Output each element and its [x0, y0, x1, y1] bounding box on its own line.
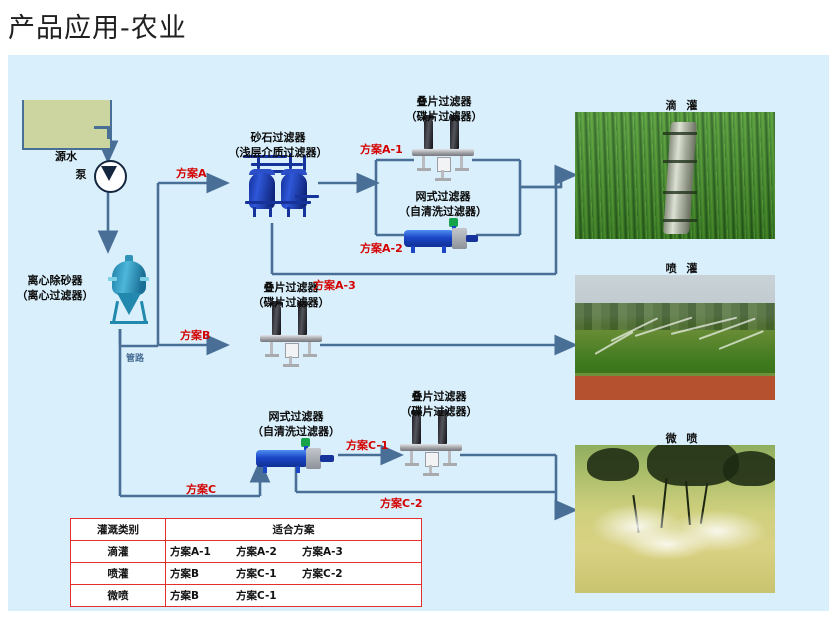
plan-b-label: 方案B — [180, 327, 210, 343]
plan-a-label: 方案A — [176, 165, 207, 181]
table-row: 微喷 方案B方案C-1 — [71, 585, 422, 607]
photo-caption-drip: 滴 灌 — [628, 97, 738, 113]
table-header-row: 灌溉类别 适合方案 — [71, 519, 422, 541]
page-title: 产品应用-农业 — [8, 6, 187, 45]
plan-chip: 方案C-1 — [236, 566, 302, 581]
disc-filter-top-label-line2: （碟片过滤器） — [386, 110, 502, 123]
disc-filter-mid-label-line2: （碟片过滤器） — [233, 296, 349, 309]
media-filter-label-line2: （浅层介质过滤器） — [214, 146, 342, 159]
plan-chip: 方案C-1 — [236, 588, 302, 603]
cyclone-separator-label-line1: 离心除砂器 — [12, 274, 98, 287]
plan-summary-table: 灌溉类别 适合方案 滴灌 方案A-1方案A-2方案A-3 喷灌 方案B方案C-1… — [70, 518, 422, 607]
table-header-category: 灌溉类别 — [71, 519, 166, 541]
pump-triangle-icon — [101, 166, 117, 181]
disc-filter-top-graphic — [410, 115, 476, 181]
plan-chip: 方案C-2 — [302, 566, 368, 581]
disc-filter-bottom-label-line2: （碟片过滤器） — [381, 405, 497, 418]
diagram-canvas: 源水 泵 离心除砂器 （离心过滤器） 管路 砂石过滤器 — [8, 55, 829, 611]
plan-c1-label: 方案C-1 — [346, 437, 389, 453]
source-water-label: 源水 — [44, 150, 88, 163]
pipeline-label: 管路 — [126, 351, 144, 364]
disc-filter-bottom-label-line1: 叠片过滤器 — [386, 390, 492, 403]
table-body: 滴灌 方案A-1方案A-2方案A-3 喷灌 方案B方案C-1方案C-2 微喷 方… — [71, 541, 422, 607]
disc-filter-top-label-line1: 叠片过滤器 — [391, 95, 497, 108]
screen-filter-top-label-line1: 网式过滤器 — [390, 190, 496, 203]
table-cell-category: 滴灌 — [71, 541, 166, 563]
table-cell-plans: 方案B方案C-1 — [166, 585, 422, 607]
table-row: 滴灌 方案A-1方案A-2方案A-3 — [71, 541, 422, 563]
plan-chip: 方案A-1 — [170, 544, 236, 559]
cyclone-separator-graphic — [100, 255, 158, 329]
table-cell-category: 喷灌 — [71, 563, 166, 585]
plan-c2-label: 方案C-2 — [380, 495, 423, 511]
table-header-plans: 适合方案 — [166, 519, 422, 541]
plan-a1-label: 方案A-1 — [360, 141, 403, 157]
screen-filter-bottom-label-line1: 网式过滤器 — [243, 410, 349, 423]
table-cell-plans: 方案B方案C-1方案C-2 — [166, 563, 422, 585]
plan-chip: 方案A-3 — [302, 544, 368, 559]
photo-caption-microspray: 微 喷 — [628, 430, 738, 446]
photo-microspray-irrigation — [575, 445, 775, 593]
disc-filter-mid-graphic — [258, 301, 324, 367]
photo-drip-irrigation — [575, 112, 775, 239]
cyclone-separator-label-line2: （离心过滤器） — [8, 289, 102, 302]
tank-outlet-pipe — [107, 127, 110, 139]
source-water-tank — [22, 100, 112, 150]
photo-caption-sprinkler: 喷 灌 — [628, 260, 738, 276]
table-cell-category: 微喷 — [71, 585, 166, 607]
pump-label: 泵 — [70, 168, 92, 181]
screen-filter-bottom-label-line2: （自清洗过滤器） — [236, 425, 356, 438]
screen-filter-top-graphic — [402, 218, 482, 254]
screen-filter-top-label-line2: （自清洗过滤器） — [383, 205, 503, 218]
tank-outlet-pipe-h — [94, 126, 110, 129]
media-filter-graphic — [237, 151, 323, 225]
disc-filter-bottom-graphic — [398, 410, 464, 476]
plan-chip: 方案B — [170, 588, 236, 603]
plan-chip: 方案B — [170, 566, 236, 581]
plan-chip: 方案A-2 — [236, 544, 302, 559]
table-row: 喷灌 方案B方案C-1方案C-2 — [71, 563, 422, 585]
photo-sprinkler-irrigation — [575, 275, 775, 400]
media-filter-label-line1: 砂石过滤器 — [223, 131, 333, 144]
plan-a3-label: 方案A-3 — [313, 277, 356, 293]
screen-filter-bottom-graphic — [254, 438, 340, 474]
plan-a2-label: 方案A-2 — [360, 240, 403, 256]
table-cell-plans: 方案A-1方案A-2方案A-3 — [166, 541, 422, 563]
plan-c-label: 方案C — [186, 481, 216, 497]
